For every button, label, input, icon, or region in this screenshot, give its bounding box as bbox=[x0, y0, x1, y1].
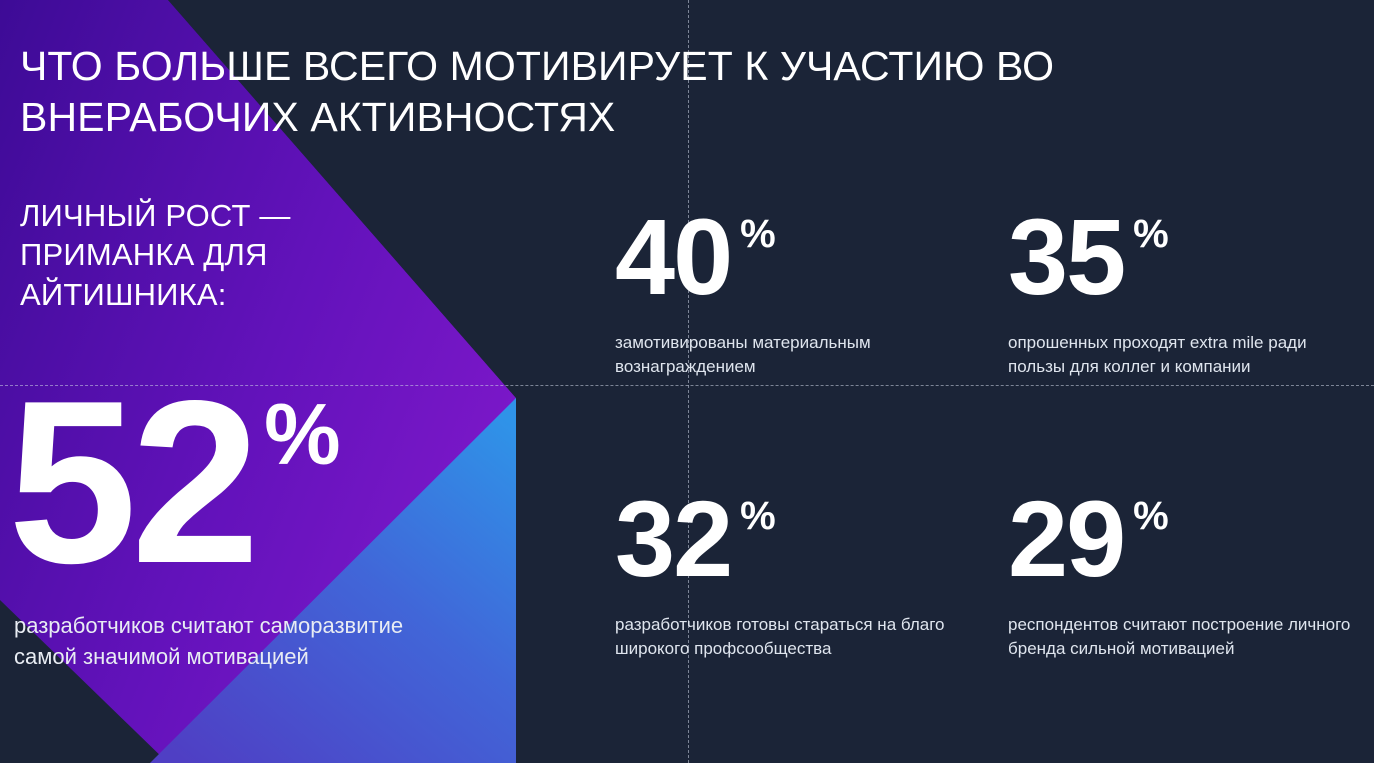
stat-card-32: 32 % разработчиков готовы стараться на б… bbox=[615, 488, 965, 662]
infographic-slide: ЧТО БОЛЬШЕ ВСЕГО МОТИВИРУЕТ К УЧАСТИЮ ВО… bbox=[0, 0, 1374, 763]
hero-percent-sign: % bbox=[264, 392, 340, 478]
page-title: ЧТО БОЛЬШЕ ВСЕГО МОТИВИРУЕТ К УЧАСТИЮ ВО… bbox=[20, 41, 1320, 142]
hero-number: 52 bbox=[8, 376, 254, 589]
stat-card-40: 40 % замотивированы материальным вознагр… bbox=[615, 206, 965, 380]
stat-caption: опрошенных проходят extra mile ради поль… bbox=[1008, 331, 1358, 380]
stat-number: 32 bbox=[615, 488, 731, 591]
stat-card-29: 29 % респондентов считают построение лич… bbox=[1008, 488, 1358, 662]
stat-number: 35 bbox=[1008, 206, 1124, 309]
stat-caption: разработчиков готовы стараться на благо … bbox=[615, 613, 965, 662]
stat-figure: 32 % bbox=[615, 488, 965, 591]
stat-percent-sign: % bbox=[1133, 214, 1169, 254]
stat-figure: 40 % bbox=[615, 206, 965, 309]
stat-percent-sign: % bbox=[740, 496, 776, 536]
hero-caption: разработчиков считают саморазвитие самой… bbox=[0, 610, 434, 672]
hero-stat: 52 % разработчиков считают саморазвитие … bbox=[0, 376, 520, 672]
stat-percent-sign: % bbox=[740, 214, 776, 254]
stat-figure: 35 % bbox=[1008, 206, 1358, 309]
hero-figure: 52 % bbox=[0, 376, 520, 606]
stat-caption: замотивированы материальным вознагражден… bbox=[615, 331, 965, 380]
stat-figure: 29 % bbox=[1008, 488, 1358, 591]
lead-label: ЛИЧНЫЙ РОСТ — ПРИМАНКА ДЛЯ АЙТИШНИКА: bbox=[20, 196, 440, 314]
stat-caption: респондентов считают построение личного … bbox=[1008, 613, 1358, 662]
stat-card-35: 35 % опрошенных проходят extra mile ради… bbox=[1008, 206, 1358, 380]
stat-number: 40 bbox=[615, 206, 731, 309]
stat-number: 29 bbox=[1008, 488, 1124, 591]
stat-percent-sign: % bbox=[1133, 496, 1169, 536]
